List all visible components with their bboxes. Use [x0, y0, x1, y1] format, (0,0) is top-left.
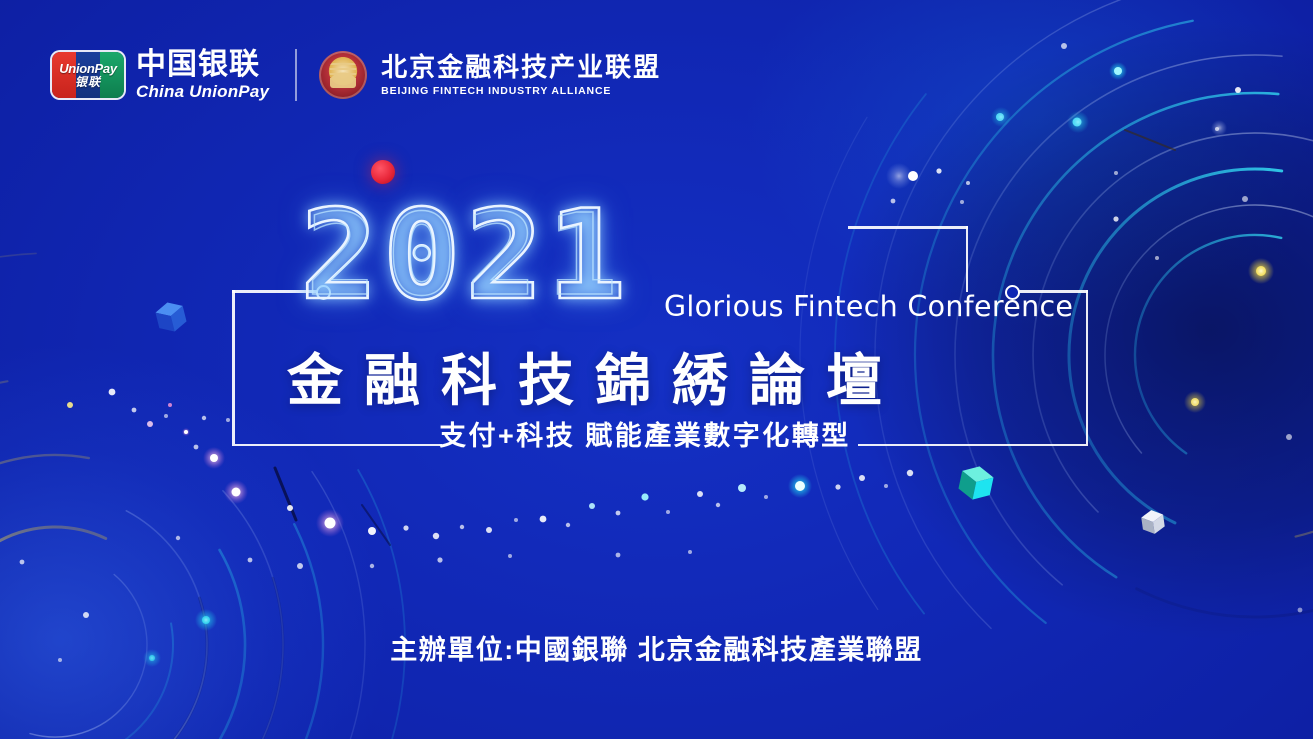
logo-divider: [295, 49, 297, 101]
unionpay-mark-top-label: UnionPay: [59, 62, 117, 76]
alliance-emblem-icon: [319, 51, 367, 99]
alliance-name-cn: 北京金融科技产业联盟: [381, 54, 661, 80]
chinese-title: 金融科技錦綉論壇: [287, 336, 903, 417]
blue-cube-icon: [149, 295, 193, 339]
unionpay-mark-icon: UnionPay 银联: [52, 52, 124, 98]
red-accent-dot: [371, 160, 395, 184]
particle-strand-upper-left: [109, 389, 230, 469]
tagline: 支付+科技 賦能產業數字化轉型: [439, 414, 851, 453]
white-cube-icon: [1136, 505, 1170, 539]
organizer-text: 主辦單位:中國銀聯 北京金融科技產業聯盟: [0, 628, 1313, 667]
alliance-wordmark: 北京金融科技产业联盟 BEIJING FINTECH INDUSTRY ALLI…: [381, 54, 661, 97]
bracket-top-tick: [848, 226, 968, 292]
alliance-name-en: BEIJING FINTECH INDUSTRY ALLIANCE: [381, 86, 661, 97]
unionpay-name-en: China UnionPay: [136, 83, 269, 100]
title-block: 2021 2021 Glorious Fintech Conference 金融…: [232, 194, 1088, 446]
logo-bar: UnionPay 银联 中国银联 China UnionPay 北京金融科技产业…: [52, 49, 661, 101]
year-text-inner-stroke: 2021: [306, 200, 627, 312]
unionpay-mark-bottom-label: 银联: [75, 76, 101, 89]
unionpay-name-cn: 中国银联: [136, 50, 269, 80]
particle-trail: [224, 470, 913, 569]
english-subtitle: Glorious Fintech Conference: [664, 290, 1073, 323]
unionpay-wordmark: 中国银联 China UnionPay: [136, 50, 269, 100]
conference-poster: UnionPay 银联 中国银联 China UnionPay 北京金融科技产业…: [0, 0, 1313, 739]
teal-cube-icon: [951, 458, 1001, 508]
